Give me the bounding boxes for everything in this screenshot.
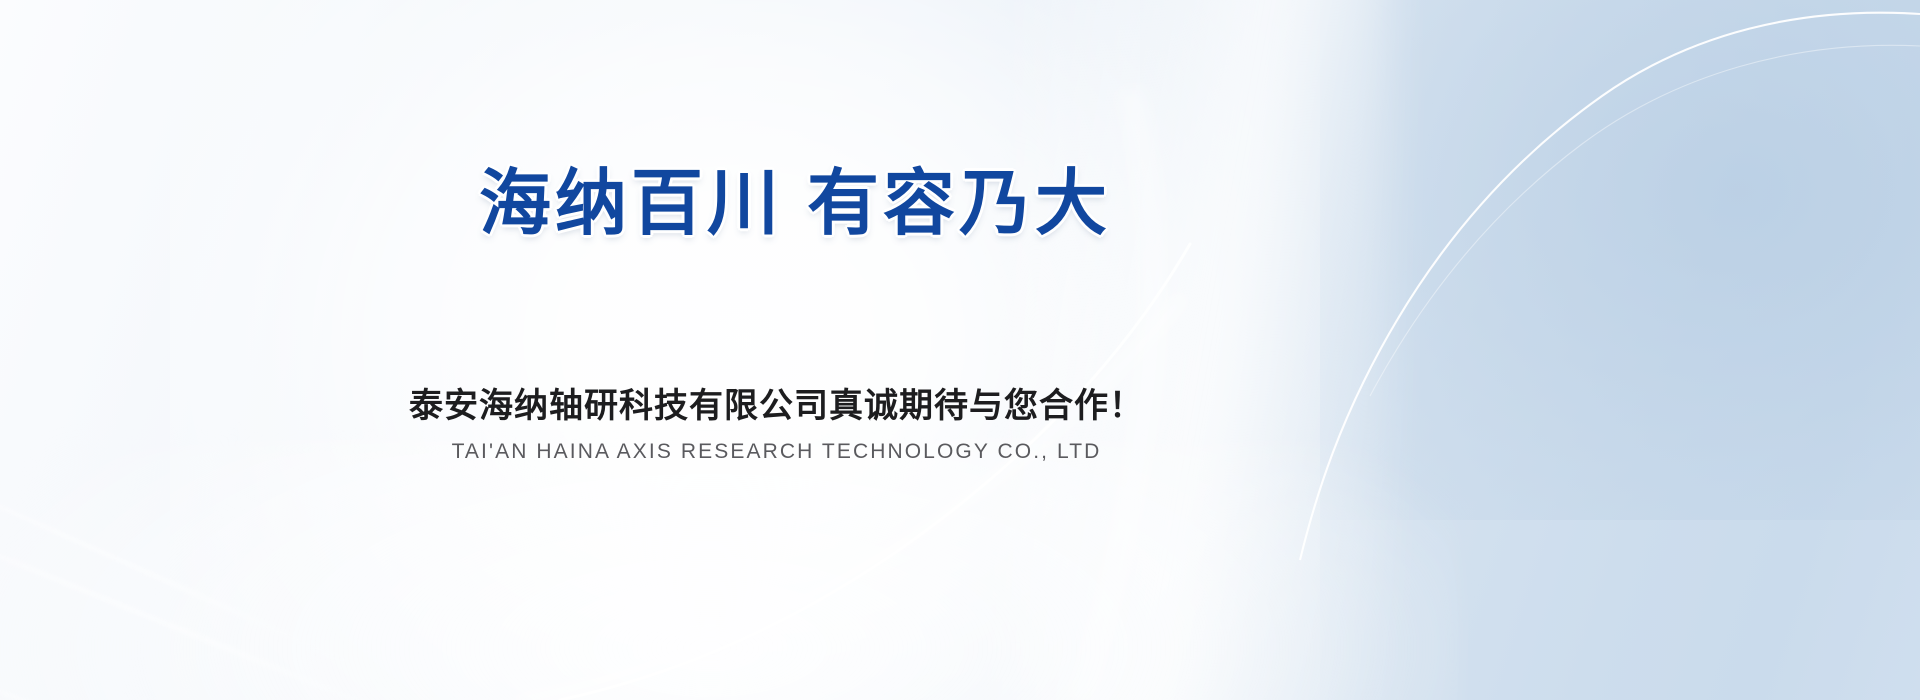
banner-subtitle-en: TAI'AN HAINA AXIS RESEARCH TECHNOLOGY CO… bbox=[0, 440, 1553, 464]
hero-banner: 海纳百川 有容乃大 泰安海纳轴研科技有限公司真诚期待与您合作！ TAI'AN H… bbox=[0, 0, 1920, 700]
banner-subtitle-cn: 泰安海纳轴研科技有限公司真诚期待与您合作！ bbox=[0, 378, 1553, 427]
banner-headline: 海纳百川 有容乃大 bbox=[0, 166, 1590, 242]
banner-content: 海纳百川 有容乃大 泰安海纳轴研科技有限公司真诚期待与您合作！ TAI'AN H… bbox=[0, 0, 1920, 700]
